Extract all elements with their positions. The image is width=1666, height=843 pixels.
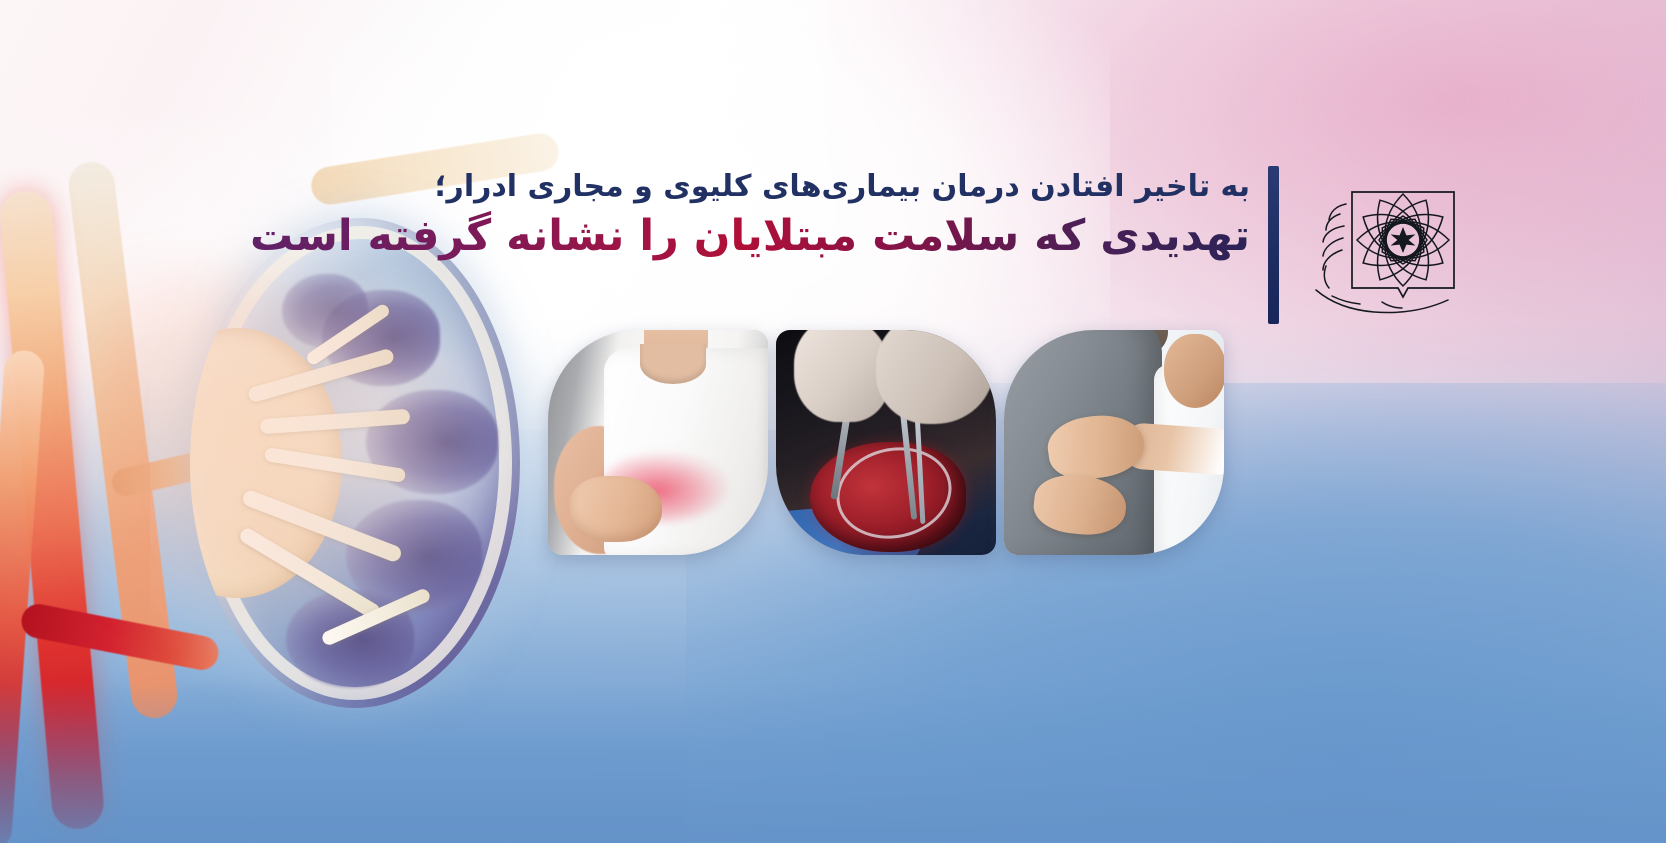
gloved-hand-shape bbox=[876, 330, 994, 424]
headline-divider-bar bbox=[1268, 166, 1279, 324]
photo-flank-pain bbox=[548, 330, 768, 555]
kidney-body bbox=[190, 218, 520, 708]
photo-kidney-surgery-image bbox=[776, 330, 996, 555]
hand-shape bbox=[570, 476, 662, 542]
doctor-head-shape bbox=[1164, 334, 1224, 408]
shahid-beheshti-university-logo bbox=[1296, 170, 1466, 322]
photo-trio bbox=[548, 330, 1258, 560]
photo-doctor-examining-back bbox=[1004, 330, 1224, 555]
university-emblem-icon bbox=[1296, 170, 1466, 322]
photo-doctor-examining-back-image bbox=[1004, 330, 1224, 555]
photo-kidney-surgery bbox=[776, 330, 996, 555]
health-awareness-banner: به تاخیر افتادن درمان بیماری‌های کلیوی و… bbox=[0, 0, 1666, 843]
headline-line-1: به تاخیر افتادن درمان بیماری‌های کلیوی و… bbox=[230, 168, 1250, 206]
headline-line-2: تهدیدی که سلامت مبتلایان را نشانه گرفته … bbox=[230, 210, 1250, 262]
photo-flank-pain-image bbox=[548, 330, 768, 555]
headline-block: به تاخیر افتادن درمان بیماری‌های کلیوی و… bbox=[230, 168, 1250, 262]
collar-shape bbox=[640, 344, 706, 384]
